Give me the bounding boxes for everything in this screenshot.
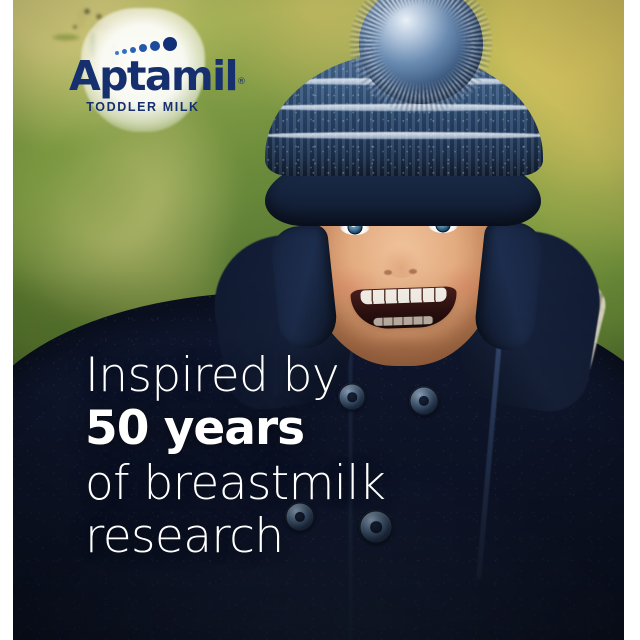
headline-line-3: of breastmilk (85, 460, 585, 507)
brand-dot (139, 44, 147, 52)
headline-line-2: 50 years (85, 405, 585, 452)
aptamil-brand-badge: Aptamil® TODDLER MILK (69, 8, 217, 132)
brand-dot (150, 41, 160, 51)
trademark-symbol: ® (237, 77, 246, 87)
product-hero-photo: Aptamil® TODDLER MILK Inspired by 50 yea… (13, 0, 624, 640)
brand-dot (163, 37, 177, 51)
upper-teeth (360, 288, 446, 305)
brand-subtitle: TODDLER MILK (69, 100, 217, 114)
nostril-right (409, 269, 417, 274)
headline-block: Inspired by 50 years of breastmilk resea… (85, 352, 585, 560)
lower-teeth (373, 316, 433, 326)
headline-line-4: research (85, 513, 585, 560)
advertisement-frame: Aptamil® TODDLER MILK Inspired by 50 yea… (0, 0, 640, 640)
brand-wordmark-text: Aptamil (69, 52, 237, 100)
nostril-left (384, 270, 392, 275)
headline-line-1: Inspired by (85, 352, 585, 399)
hat-pompom (359, 0, 483, 104)
brand-wordmark: Aptamil® (69, 56, 217, 97)
